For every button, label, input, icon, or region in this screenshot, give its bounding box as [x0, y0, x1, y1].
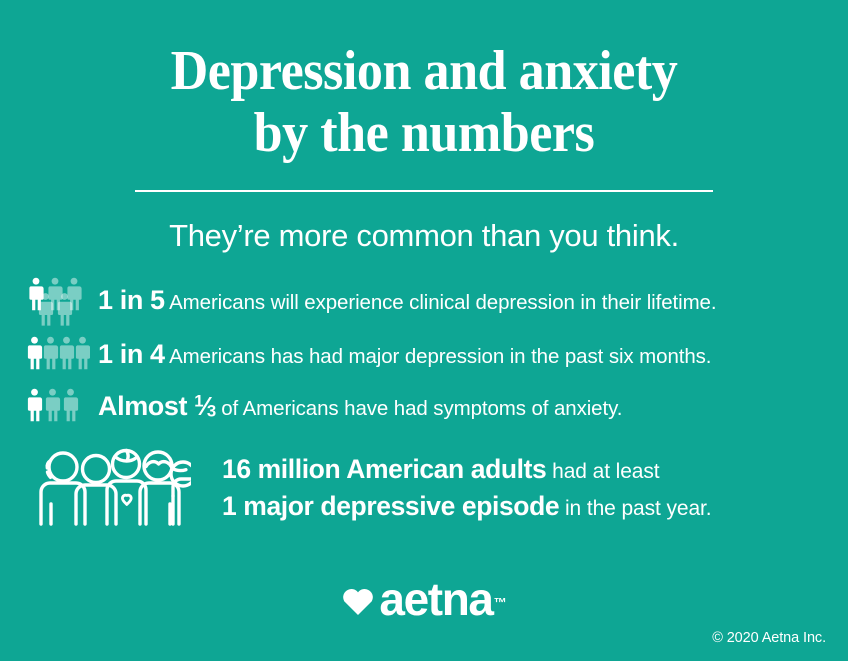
people-1-in-4-icon: [26, 335, 98, 375]
group-stat-line-2-bold: 1 major depressive episode: [222, 491, 559, 521]
title-block: Depression and anxiety by the numbers: [0, 0, 848, 164]
copyright-notice: © 2020 Aetna Inc.: [712, 630, 826, 646]
group-stat-row: 16 million American adults had at least …: [0, 446, 848, 531]
stat-text: Almost 1⁄3 of Americans have had symptom…: [98, 393, 622, 422]
stats-list: 1 in 5 Americans will experience clinica…: [0, 276, 848, 430]
brand-logo: aetna ™: [0, 576, 848, 622]
group-of-people-icon: [36, 446, 206, 531]
aetna-logo: aetna ™: [341, 576, 506, 622]
infographic-poster: Depression and anxiety by the numbers Th…: [0, 0, 848, 661]
fraction-one-third: 1⁄3: [194, 393, 215, 420]
aetna-wordmark: aetna: [379, 576, 492, 622]
group-stat-line-2-rest: in the past year.: [565, 497, 712, 520]
trademark-symbol: ™: [494, 596, 507, 609]
stat-row: 1 in 5 Americans will experience clinica…: [0, 276, 848, 326]
page-title-line-2: by the numbers: [30, 102, 819, 164]
stat-lead: 1 in 5: [98, 285, 165, 315]
people-1-in-5-icon: [26, 276, 98, 326]
page-title-line-1: Depression and anxiety: [30, 40, 819, 102]
subtitle: They’re more common than you think.: [0, 218, 848, 254]
title-divider: [135, 190, 713, 192]
people-1-in-3-icon: [26, 387, 98, 427]
fraction-numerator: 1: [194, 391, 203, 410]
group-stat-line-1: 16 million American adults had at least: [222, 452, 712, 489]
fraction-denominator: 3: [207, 401, 216, 420]
group-stat-line-1-bold: 16 million American adults: [222, 454, 546, 484]
stat-body: Americans will experience clinical depre…: [169, 291, 716, 314]
stat-lead-prefix: Almost: [98, 391, 194, 421]
heart-icon: [341, 584, 375, 618]
group-stat-line-2: 1 major depressive episode in the past y…: [222, 489, 712, 526]
stat-body: Americans has had major depression in th…: [169, 345, 711, 368]
group-stat-text: 16 million American adults had at least …: [222, 452, 712, 526]
stat-text: 1 in 4 Americans has had major depressio…: [98, 341, 711, 370]
stat-lead: 1 in 4: [98, 339, 165, 369]
group-stat-line-1-rest: had at least: [552, 460, 659, 483]
stat-row: Almost 1⁄3 of Americans have had symptom…: [0, 384, 848, 430]
stat-body: of Americans have had symptoms of anxiet…: [221, 397, 622, 420]
stat-text: 1 in 5 Americans will experience clinica…: [98, 287, 716, 316]
stat-row: 1 in 4 Americans has had major depressio…: [0, 332, 848, 378]
